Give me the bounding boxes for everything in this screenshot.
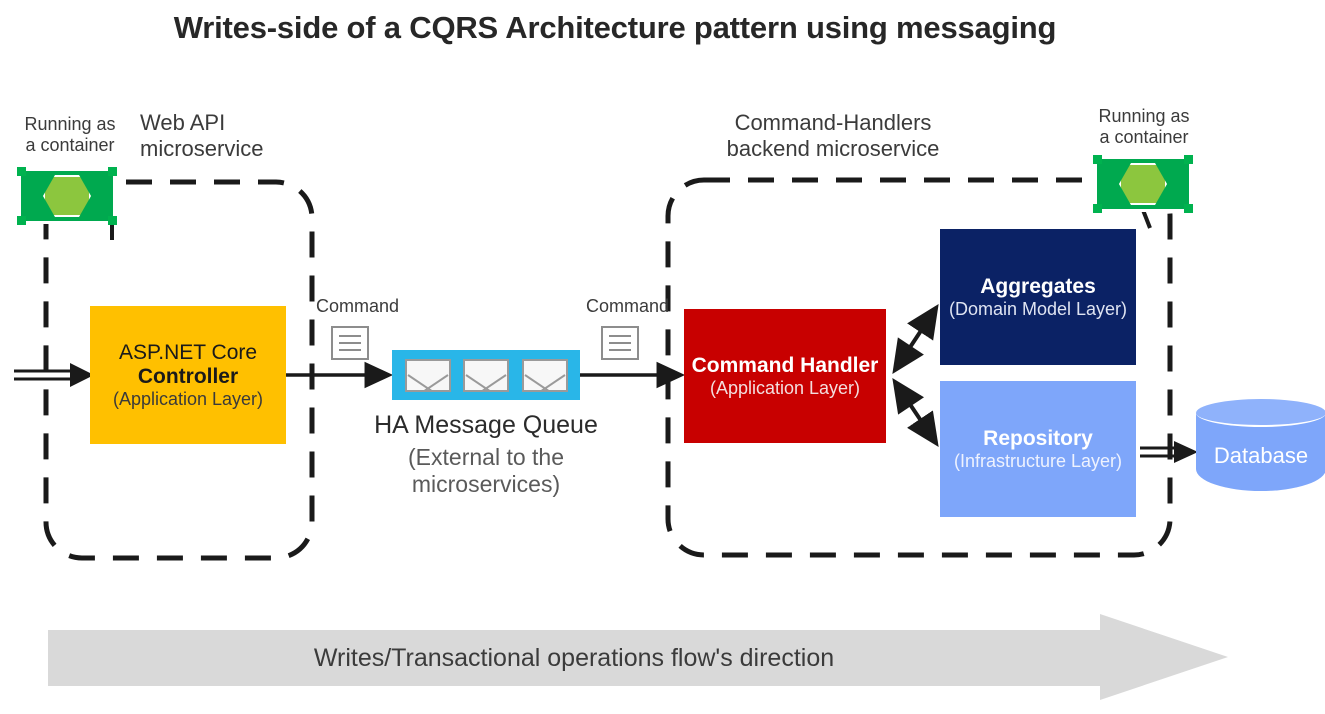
flow-direction-label: Writes/Transactional operations flow's d… [48, 630, 1100, 686]
handler-sub-label: (Application Layer) [710, 378, 860, 399]
flow-direction-banner: Writes/Transactional operations flow's d… [48, 614, 1280, 700]
container-left-caption: Running as a container [14, 114, 126, 156]
resize-handle-bl [17, 216, 26, 225]
aggregates-main-label: Aggregates [980, 275, 1096, 299]
queue-subtitle: (External to the microservices) [352, 444, 620, 498]
database-top-ellipse [1196, 399, 1325, 427]
command-label-right: Command [586, 296, 669, 317]
container-right-connector [1143, 210, 1150, 228]
resize-handle-tl [17, 167, 26, 176]
message-envelope-icon [405, 359, 451, 392]
repository-to-database-arrow [1140, 441, 1198, 463]
repository-main-label: Repository [983, 427, 1093, 451]
container-icon-right [1094, 156, 1192, 212]
handler-main-label: Command Handler [692, 354, 879, 378]
resize-handle-br [1184, 204, 1193, 213]
resize-handle-tr [1184, 155, 1193, 164]
command-handler-box[interactable]: Command Handler (Application Layer) [684, 309, 886, 443]
command-label-left: Command [316, 296, 399, 317]
handler-repository-arrow [895, 382, 936, 443]
database-cylinder[interactable]: Database [1196, 399, 1325, 505]
ha-message-queue[interactable] [392, 350, 580, 400]
resize-handle-bl [1093, 204, 1102, 213]
message-envelope-icon [522, 359, 568, 392]
command-document-icon-left [331, 326, 369, 360]
resize-handle-tl [1093, 155, 1102, 164]
queue-title: HA Message Queue [352, 411, 620, 441]
handler-aggregates-arrow [895, 308, 936, 370]
page-title: Writes-side of a CQRS Architecture patte… [0, 10, 1230, 46]
backend-microservice-label: Command-Handlers backend microservice [668, 110, 998, 162]
flow-banner-arrowhead [1100, 614, 1228, 700]
resize-handle-br [108, 216, 117, 225]
repository-sub-label: (Infrastructure Layer) [954, 451, 1122, 472]
database-label: Database [1196, 443, 1325, 469]
aspnet-controller-box[interactable]: ASP.NET Core Controller (Application Lay… [90, 306, 286, 444]
message-envelope-icon [463, 359, 509, 392]
controller-sub-label: (Application Layer) [113, 389, 263, 410]
resize-handle-tr [108, 167, 117, 176]
container-icon-left [18, 168, 116, 224]
diagram-canvas: Writes-side of a CQRS Architecture patte… [0, 0, 1325, 714]
webapi-microservice-label: Web API microservice [140, 110, 360, 162]
hexagon-icon [43, 175, 91, 217]
hexagon-icon [1119, 163, 1167, 205]
controller-top-label: ASP.NET Core [119, 341, 257, 365]
controller-main-label: Controller [138, 365, 238, 389]
incoming-request-arrow [14, 363, 94, 387]
aggregates-sub-label: (Domain Model Layer) [949, 299, 1127, 320]
aggregates-box[interactable]: Aggregates (Domain Model Layer) [940, 229, 1136, 365]
repository-box[interactable]: Repository (Infrastructure Layer) [940, 381, 1136, 517]
command-document-icon-right [601, 326, 639, 360]
container-right-caption: Running as a container [1088, 106, 1200, 148]
